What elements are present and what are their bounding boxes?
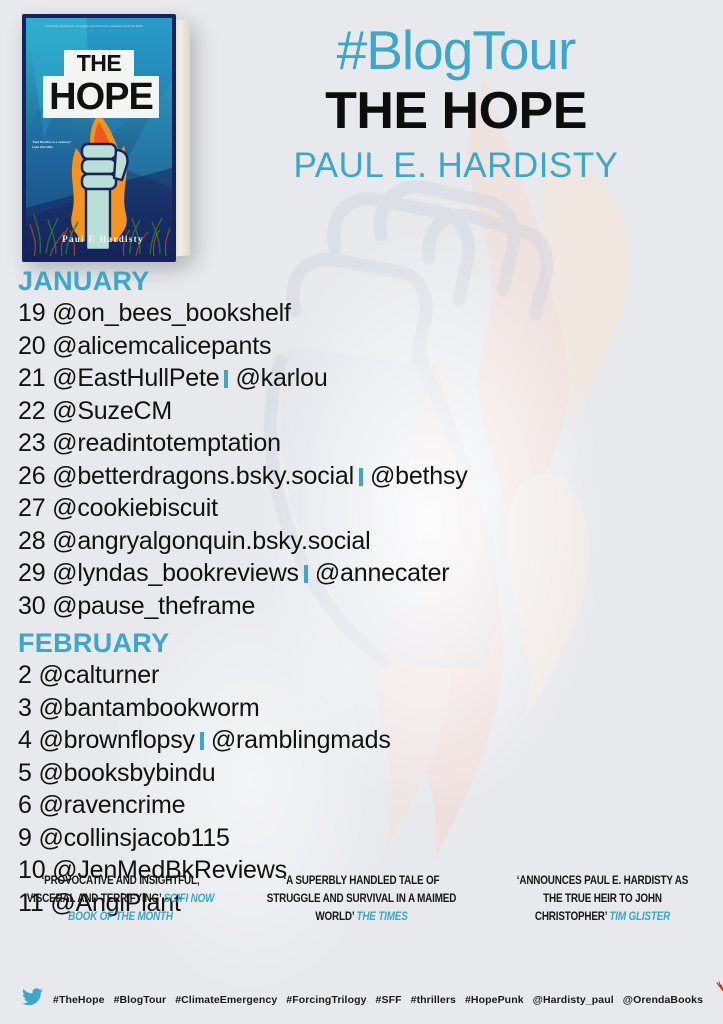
entry-date: 5 [18, 759, 38, 787]
entry-date: 20 [18, 332, 52, 360]
entry-handle[interactable]: @angryalgonquin.bsky.social [52, 527, 370, 555]
entry-date: 27 [18, 494, 52, 522]
entry-handle[interactable]: @EastHullPete [52, 364, 219, 392]
blog-tour-poster: 'A superbly handled tale of struggle and… [0, 0, 723, 1024]
entry-date: 26 [18, 462, 52, 490]
book-front-cover: 'A superbly handled tale of struggle and… [22, 14, 176, 262]
cover-side-blurb: 'Paul Hardisty is a visionary' Luke McCa… [32, 140, 74, 150]
month-heading-january: JANUARY [18, 266, 708, 296]
schedule-entry: 19 @on_bees_bookshelf [18, 297, 708, 330]
schedule-entry: 21 @EastHullPete@karlou [18, 362, 708, 395]
book-cover-image: 'A superbly handled tale of struggle and… [22, 14, 190, 262]
quote-source: SCIFI NOW BOOK OF THE MONTH [68, 893, 214, 923]
entry-handle[interactable]: @brownflopsy [38, 726, 194, 754]
schedule-entry: 28 @angryalgonquin.bsky.social [18, 525, 708, 558]
entry-handle[interactable]: @bethsy [370, 462, 468, 490]
review-quote: ‘ANNOUNCES PAUL E. HARDISTY AS THE TRUE … [482, 872, 723, 964]
review-quote: ‘A SUPERBLY HANDLED TALE OF STRUGGLE AND… [241, 872, 482, 964]
handle-separator [359, 468, 363, 486]
entry-handle[interactable]: @bantambookworm [38, 694, 259, 722]
schedule-entry: 22 @SuzeCM [18, 395, 708, 428]
blogtour-hashtag: #BlogTour [196, 20, 716, 80]
entry-handle[interactable]: @karlou [235, 364, 327, 392]
entry-date: 6 [18, 791, 38, 819]
handle-separator [304, 565, 308, 583]
hashtag-item[interactable]: #thrillers [411, 994, 456, 1006]
quote-source: THE TIMES [356, 911, 407, 923]
entry-date: 2 [18, 661, 38, 689]
entry-handle[interactable]: @cookiebiscuit [52, 494, 218, 522]
entry-handle[interactable]: @on_bees_bookshelf [52, 299, 291, 327]
hashtag-item[interactable]: @Hardisty_paul [533, 994, 614, 1006]
schedule-entry: 4 @brownflopsy@ramblingmads [18, 724, 708, 757]
entry-date: 22 [18, 397, 52, 425]
entry-date: 30 [18, 592, 52, 620]
entry-handle[interactable]: @betterdragons.bsky.social [52, 462, 354, 490]
cover-author-name: Paul E Hardisty [26, 234, 172, 244]
schedule-entry: 6 @ravencrime [18, 789, 708, 822]
hashtag-item[interactable]: #HopePunk [465, 994, 524, 1006]
entry-handle[interactable]: @booksbybindu [38, 759, 215, 787]
orenda-books-logo: ORENDA BOOKS [712, 978, 723, 1022]
entry-date: 9 [18, 824, 38, 852]
review-quote: ‘PROVOCATIVE AND INSIGHTFUL, VISCERAL AN… [0, 872, 241, 964]
orenda-logo-line2: BOOKS [712, 1010, 723, 1016]
page-title: THE HOPE [196, 82, 716, 140]
schedule-entry: 3 @bantambookworm [18, 692, 708, 725]
schedule-entry: 2 @calturner [18, 659, 708, 692]
handle-separator [224, 370, 228, 388]
review-quotes: ‘PROVOCATIVE AND INSIGHTFUL, VISCERAL AN… [0, 872, 723, 964]
entry-handle[interactable]: @lyndas_bookreviews [52, 559, 299, 587]
schedule-entry: 29 @lyndas_bookreviews@annecater [18, 557, 708, 590]
entry-handle[interactable]: @pause_theframe [52, 592, 255, 620]
handle-separator [200, 732, 204, 750]
entry-date: 4 [18, 726, 38, 754]
entry-handle[interactable]: @annecater [315, 559, 450, 587]
entry-handle[interactable]: @ravencrime [38, 791, 185, 819]
schedule-entry: 9 @collinsjacob115 [18, 822, 708, 855]
twitter-bird-icon [22, 988, 43, 1011]
cover-title-line2: HOPE [43, 76, 159, 118]
schedule-entry: 23 @readintotemptation [18, 427, 708, 460]
cover-top-blurb: 'A superbly handled tale of struggle and… [34, 24, 154, 28]
tour-schedule: JANUARY19 @on_bees_bookshelf20 @alicemca… [18, 266, 708, 919]
hashtag-item[interactable]: #ClimateEmergency [175, 994, 277, 1006]
hashtag-item[interactable]: #SFF [376, 994, 402, 1006]
schedule-entry: 26 @betterdragons.bsky.social@bethsy [18, 460, 708, 493]
entry-handle[interactable]: @readintotemptation [52, 429, 281, 457]
entry-date: 3 [18, 694, 38, 722]
quote-text: ‘A SUPERBLY HANDLED TALE OF STRUGGLE AND… [266, 872, 456, 926]
poster-footer: #TheHope#BlogTour#ClimateEmergency#Forci… [0, 975, 723, 1024]
entry-date: 28 [18, 527, 52, 555]
hashtag-item[interactable]: #BlogTour [114, 994, 167, 1006]
entry-handle[interactable]: @calturner [38, 661, 159, 689]
quote-text: ‘ANNOUNCES PAUL E. HARDISTY AS THE TRUE … [507, 872, 697, 926]
entry-handle[interactable]: @alicemcalicepants [52, 332, 271, 360]
header-titles: #BlogTour THE HOPE PAUL E. HARDISTY [196, 20, 716, 188]
entry-handle[interactable]: @SuzeCM [52, 397, 172, 425]
entry-handle[interactable]: @ramblingmads [211, 726, 391, 754]
cover-title-line1: THE [64, 50, 134, 77]
hashtag-item[interactable]: #TheHope [53, 994, 105, 1006]
hashtag-list: #TheHope#BlogTour#ClimateEmergency#Forci… [53, 994, 712, 1006]
author-name: PAUL E. HARDISTY [196, 144, 716, 188]
book-cover-artwork: 'A superbly handled tale of struggle and… [26, 18, 172, 258]
quote-source: TIM GLISTER [609, 911, 670, 923]
entry-date: 23 [18, 429, 52, 457]
poster-header: 'A superbly handled tale of struggle and… [0, 0, 723, 262]
hashtag-item[interactable]: #ForcingTrilogy [286, 994, 366, 1006]
entry-date: 19 [18, 299, 52, 327]
hashtag-item[interactable]: @OrendaBooks [623, 994, 703, 1006]
schedule-entry: 30 @pause_theframe [18, 590, 708, 623]
entry-handle[interactable]: @collinsjacob115 [38, 824, 229, 852]
quote-text: ‘PROVOCATIVE AND INSIGHTFUL, VISCERAL AN… [25, 872, 215, 926]
entry-date: 29 [18, 559, 52, 587]
orenda-logo-text: ORENDA BOOKS [712, 1004, 723, 1017]
entry-date: 21 [18, 364, 52, 392]
schedule-entry: 20 @alicemcalicepants [18, 330, 708, 363]
month-heading-february: FEBRUARY [18, 628, 708, 658]
schedule-entry: 5 @booksbybindu [18, 757, 708, 790]
schedule-entry: 27 @cookiebiscuit [18, 492, 708, 525]
